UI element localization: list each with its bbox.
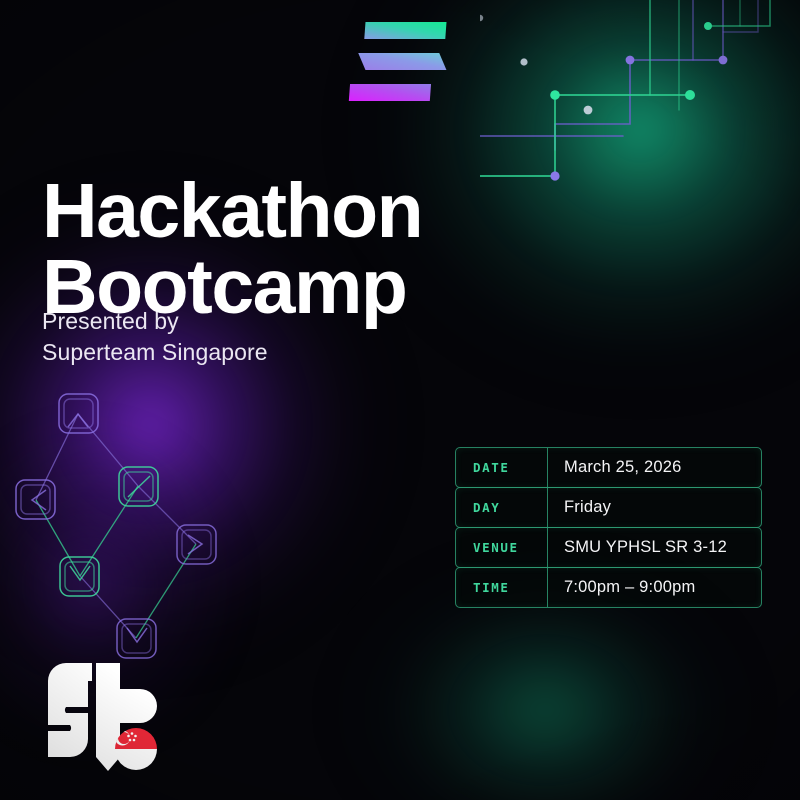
page-title: Hackathon Bootcamp [42,173,562,325]
table-row: TIME 7:00pm – 9:00pm [455,567,762,608]
detail-label-date: DATE [456,448,548,487]
table-row: DATE March 25, 2026 [455,447,762,488]
subtitle-line-2: Superteam Singapore [42,337,268,368]
table-row: DAY Friday [455,487,762,528]
solana-logo-icon [342,16,458,108]
subtitle-line-1: Presented by [42,306,268,337]
headline-line-1: Hackathon [42,173,562,249]
detail-value-date: March 25, 2026 [548,448,761,487]
detail-value-venue: SMU YPHSL SR 3-12 [548,528,761,567]
singapore-flag-icon [115,728,157,771]
detail-label-venue: VENUE [456,528,548,567]
subtitle: Presented by Superteam Singapore [42,306,268,369]
superteam-logo-icon [44,663,164,771]
detail-value-day: Friday [548,488,761,527]
network-diagram-decoration [0,380,240,670]
event-poster: Hackathon Bootcamp Presented by Supertea… [0,0,800,800]
event-details-table: DATE March 25, 2026 DAY Friday VENUE SMU… [455,447,762,608]
detail-value-time: 7:00pm – 9:00pm [548,568,761,607]
table-row: VENUE SMU YPHSL SR 3-12 [455,527,762,568]
detail-label-day: DAY [456,488,548,527]
detail-label-time: TIME [456,568,548,607]
